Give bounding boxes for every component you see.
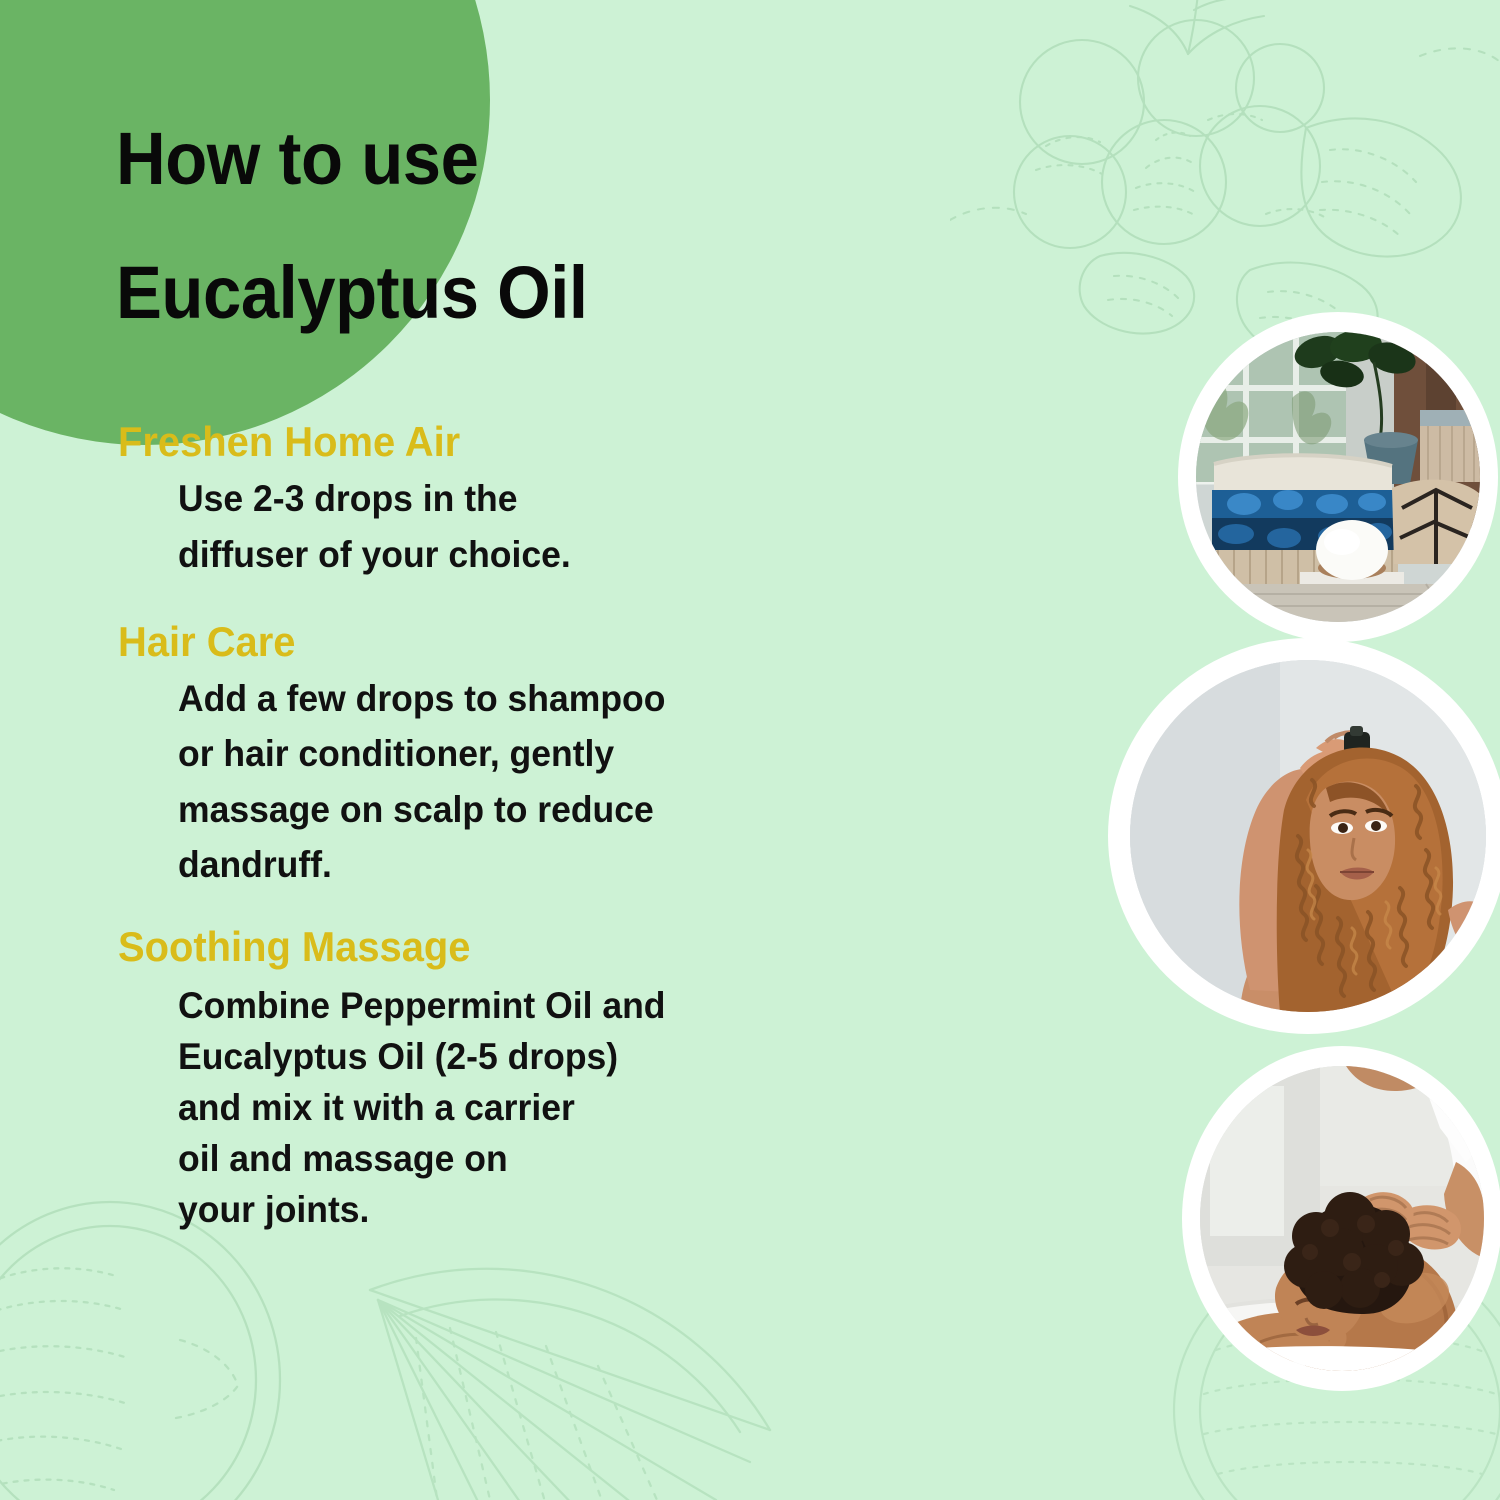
photo-diffuser-living-room bbox=[1178, 312, 1498, 642]
photo-soothing-massage bbox=[1182, 1046, 1500, 1391]
section-heading-0: Freshen Home Air bbox=[118, 418, 869, 465]
photo-soothing-massage-image bbox=[1200, 1066, 1484, 1371]
title-line-2: Eucalyptus Oil bbox=[116, 256, 841, 330]
section-body-2: Combine Peppermint Oil and Eucalyptus Oi… bbox=[178, 980, 879, 1235]
section-freshen-home-air: Freshen Home Air Use 2-3 drops in the di… bbox=[118, 418, 908, 584]
infographic-canvas: How to use Eucalyptus Oil Freshen Home A… bbox=[0, 0, 1500, 1500]
title-line-1: How to use bbox=[116, 122, 841, 196]
photo-diffuser-living-room-image bbox=[1196, 332, 1480, 622]
section-soothing-massage: Soothing Massage Combine Peppermint Oil … bbox=[118, 923, 908, 1235]
photo-hair-care-image bbox=[1130, 660, 1486, 1012]
section-heading-2: Soothing Massage bbox=[118, 923, 869, 970]
usage-sections: Freshen Home Air Use 2-3 drops in the di… bbox=[118, 418, 908, 1241]
page-title: How to use Eucalyptus Oil bbox=[116, 122, 896, 330]
citrus-wedge-watermark-icon bbox=[330, 1250, 800, 1500]
section-body-0: Use 2-3 drops in the diffuser of your ch… bbox=[178, 471, 879, 583]
section-hair-care: Hair Care Add a few drops to shampoo or … bbox=[118, 618, 908, 893]
photo-hair-care bbox=[1108, 638, 1500, 1034]
section-heading-1: Hair Care bbox=[118, 618, 869, 665]
section-body-1: Add a few drops to shampoo or hair condi… bbox=[178, 671, 879, 893]
